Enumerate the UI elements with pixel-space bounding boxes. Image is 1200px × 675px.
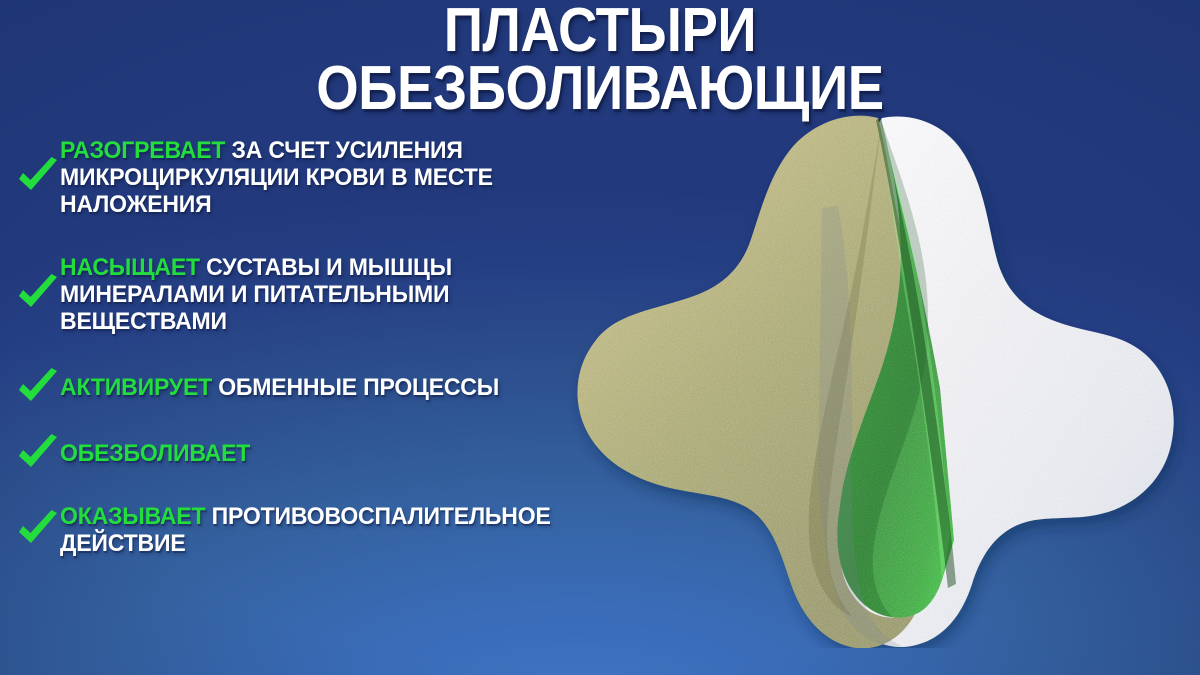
benefit-text: НАСЫЩАЕТ СУСТАВЫ И МЫШЦЫ МИНЕРАЛАМИ И ПИ… [60,255,613,336]
benefit-highlight: АКТИВИРУЕТ [60,374,212,401]
list-item: РАЗОГРЕВАЕТ ЗА СЧЕТ УСИЛЕНИЯ МИКРОЦИРКУЛ… [8,138,648,219]
benefit-text: ОКАЗЫВАЕТ ПРОТИВОВОСПАЛИТЕЛЬНОЕ ДЕЙСТВИЕ [60,504,613,558]
benefit-rest: ОБМЕННЫЕ ПРОЦЕССЫ [212,374,499,401]
benefit-text: АКТИВИРУЕТ ОБМЕННЫЕ ПРОЦЕССЫ [60,375,499,402]
poster: ПЛАСТЫРИ ОБЕЗБОЛИВАЮЩИЕ РАЗОГРЕВАЕТ ЗА С… [0,0,1200,675]
benefit-text: ОБЕЗБОЛИВАЕТ [60,441,250,468]
list-item: НАСЫЩАЕТ СУСТАВЫ И МЫШЦЫ МИНЕРАЛАМИ И ПИ… [8,255,648,336]
check-icon [16,434,60,476]
benefit-highlight: ОБЕЗБОЛИВАЕТ [60,440,250,467]
list-item: АКТИВИРУЕТ ОБМЕННЫЕ ПРОЦЕССЫ [8,372,648,406]
benefits-list: РАЗОГРЕВАЕТ ЗА СЧЕТ УСИЛЕНИЯ МИКРОЦИРКУЛ… [8,134,648,558]
list-item: ОБЕЗБОЛИВАЕТ [8,438,648,472]
benefit-highlight: РАЗОГРЕВАЕТ [60,137,225,164]
product-image [560,88,1200,648]
benefit-text: РАЗОГРЕВАЕТ ЗА СЧЕТ УСИЛЕНИЯ МИКРОЦИРКУЛ… [60,138,613,219]
check-icon [16,157,60,199]
check-icon [16,510,60,552]
benefit-highlight: НАСЫЩАЕТ [60,254,200,281]
list-item: ОКАЗЫВАЕТ ПРОТИВОВОСПАЛИТЕЛЬНОЕ ДЕЙСТВИЕ [8,504,648,558]
check-icon [16,274,60,316]
check-icon [16,368,60,410]
benefit-highlight: ОКАЗЫВАЕТ [60,503,205,530]
